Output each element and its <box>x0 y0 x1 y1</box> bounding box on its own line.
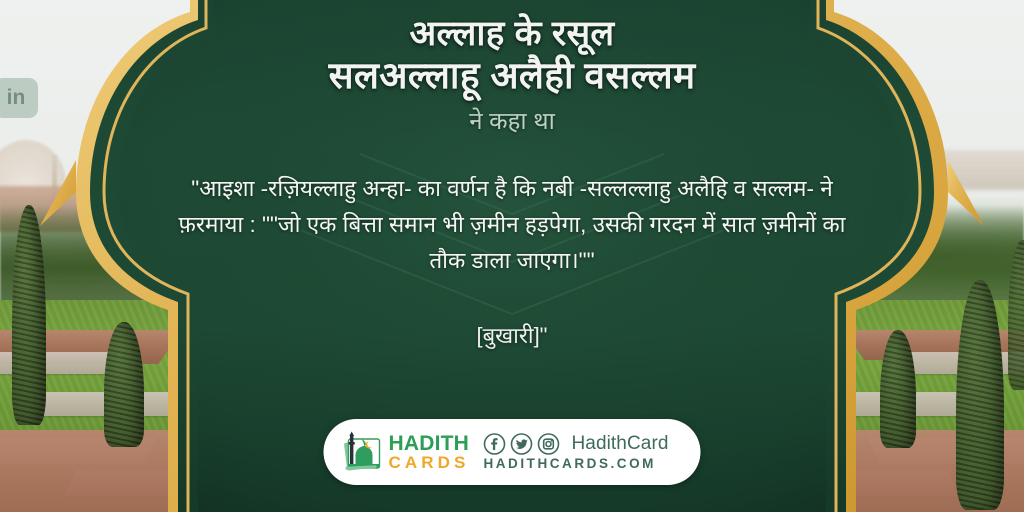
logo-cards-text: CARDS <box>389 454 470 471</box>
logo-hadith-text: HADITH <box>389 433 470 454</box>
hadith-attribution: [बुखारी]" <box>477 320 548 350</box>
title-block: अल्लाह के रसूल सलअल्लाहू अलैही वसल्लम ने… <box>0 0 1024 137</box>
social-links-row: HadithCard <box>483 433 668 455</box>
brand-url-text[interactable]: HADITHCARDS.COM <box>483 456 668 471</box>
twitter-icon[interactable] <box>510 433 532 455</box>
hadith-body-text: "आइशा -रज़ियल्लाहु अन्हा- का वर्णन है कि… <box>172 171 852 280</box>
hadithcards-wordmark: HADITH CARDS <box>389 433 470 471</box>
instagram-icon[interactable] <box>537 433 559 455</box>
brand-name-text: HadithCard <box>571 433 668 455</box>
title-subtitle: ने कहा था <box>0 104 1024 137</box>
title-line-1: अल्लाह के रसूल <box>0 14 1024 55</box>
brand-info: HadithCard HADITHCARDS.COM <box>483 433 668 471</box>
hadithcards-logo-icon <box>340 430 386 474</box>
brand-footer-pill[interactable]: HADITH CARDS <box>324 419 701 485</box>
facebook-icon[interactable] <box>483 433 505 455</box>
title-line-2: सलअल्लाहू अलैही वसल्लम <box>0 55 1024 98</box>
